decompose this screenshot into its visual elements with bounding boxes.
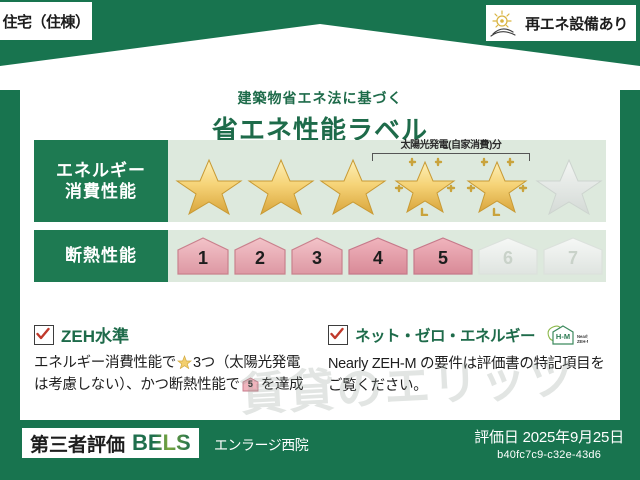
energy-rating-area: 太陽光発電(自家消費)分 <box>168 140 606 222</box>
insulation-badge-5: 5 <box>412 236 474 276</box>
builder-name: エンラージ西院 <box>214 435 308 455</box>
evaluation-date-label: 評価日 <box>474 429 518 446</box>
building-type-tag: 住宅（住棟） <box>0 2 92 40</box>
bels-jp-label: 第三者評価 <box>30 430 125 457</box>
note-zeh-body-part1: エネルギー消費性能で <box>34 355 176 371</box>
evaluation-info: 評価日 2025年9月25日 b40fc7c9-c32e-43d6 <box>474 426 624 461</box>
energy-performance-label: エネルギー 消費性能 <box>34 140 168 222</box>
evaluation-date-value: 2025年9月25日 <box>523 429 624 446</box>
energy-performance-label: 住宅（住棟） 再エネ設備あり 建築物省エネ法に基づく 省エネ性能ラベル <box>0 0 640 480</box>
criteria-notes: ZEH水準 エネルギー消費性能で3つ（太陽光発電は考慮しない）、かつ断熱性能で5… <box>34 322 610 398</box>
note-zeh-title: ZEH水準 <box>61 322 129 347</box>
insulation-badge-7-num: 7 <box>542 248 604 269</box>
insulation-badge-2: 2 <box>233 236 287 276</box>
insulation-badge-4-num: 4 <box>347 248 409 269</box>
footer-bar: 第三者評価 BELS エンラージ西院 評価日 2025年9月25日 b40fc7… <box>0 420 640 480</box>
insulation-badge-3-num: 3 <box>290 248 344 269</box>
star-2 <box>246 154 316 216</box>
checkbox-checked-icon-2 <box>328 325 348 345</box>
bels-en-label: BELS <box>132 430 191 456</box>
insulation-badge-1-num: 1 <box>176 248 230 269</box>
star-3 <box>318 154 388 216</box>
note-zeh-header: ZEH水準 <box>34 322 314 347</box>
note-net-zero-energy: ネット・ゼロ・エネルギー H-M Nearly ZEH-M Nearly ZEH… <box>328 322 608 398</box>
insulation-badge-4: 4 <box>347 236 409 276</box>
insulation-badge-2-num: 2 <box>233 248 287 269</box>
bels-evaluation-box: 第三者評価 BELS <box>22 428 199 458</box>
renewable-equipment-tag: 再エネ設備あり <box>486 5 636 41</box>
star-4-solar <box>390 154 460 216</box>
svg-text:H-M: H-M <box>556 332 570 341</box>
checkbox-checked-icon <box>34 325 54 345</box>
insulation-label-text: 断熱性能 <box>65 245 137 266</box>
label-title-block: 建築物省エネ法に基づく 省エネ性能ラベル <box>0 88 640 147</box>
insulation-badge-7: 7 <box>542 236 604 276</box>
note-zeh-body-part3: を達成 <box>261 377 304 393</box>
building-type-label: 住宅（住棟） <box>2 11 89 32</box>
sun-renewable-icon <box>490 9 520 37</box>
performance-rows: エネルギー 消費性能 太陽光発電(自家消費)分 <box>34 140 606 282</box>
insulation-step-badges: 1 2 3 4 5 <box>168 236 604 276</box>
insulation-badge-3: 3 <box>290 236 344 276</box>
evaluation-date: 評価日 2025年9月25日 <box>474 426 624 447</box>
energy-label-line2: 消費性能 <box>65 181 137 202</box>
star-5-solar <box>462 154 532 216</box>
insulation-rating-area: 1 2 3 4 5 <box>168 230 606 282</box>
evaluation-uid: b40fc7c9-c32e-43d6 <box>474 449 624 461</box>
note-zeh-body: エネルギー消費性能で3つ（太陽光発電は考慮しない）、かつ断熱性能で5を達成 <box>34 352 314 397</box>
star-6-empty <box>534 154 604 216</box>
star-1 <box>174 154 244 216</box>
inline-house-badge-icon: 5 <box>242 377 259 392</box>
note-nze-title: ネット・ゼロ・エネルギー <box>355 324 535 346</box>
solar-note-caption: 太陽光発電(自家消費)分 <box>372 141 530 151</box>
note-nze-header: ネット・ゼロ・エネルギー H-M Nearly ZEH-M <box>328 322 608 348</box>
insulation-badge-6: 6 <box>477 236 539 276</box>
insulation-badge-6-num: 6 <box>477 248 539 269</box>
energy-star-rating <box>168 154 604 216</box>
nearly-zeh-m-logo: H-M Nearly ZEH-M <box>544 322 588 348</box>
insulation-badge-1: 1 <box>176 236 230 276</box>
svg-text:ZEH-M: ZEH-M <box>577 339 588 344</box>
title-subtitle: 建築物省エネ法に基づく <box>0 88 640 108</box>
note-nze-body: Nearly ZEH-M の要件は評価書の特記項目をご覧ください。 <box>328 353 608 398</box>
note-zeh-standard: ZEH水準 エネルギー消費性能で3つ（太陽光発電は考慮しない）、かつ断熱性能で5… <box>34 322 314 398</box>
energy-label-line1: エネルギー <box>56 160 146 181</box>
inline-star-icon <box>177 355 192 369</box>
inline-house-badge-num: 5 <box>242 380 259 389</box>
insulation-performance-label: 断熱性能 <box>34 230 168 282</box>
insulation-badge-5-num: 5 <box>412 248 474 269</box>
energy-performance-row: エネルギー 消費性能 太陽光発電(自家消費)分 <box>34 140 606 222</box>
renewable-equipment-label: 再エネ設備あり <box>525 13 628 34</box>
insulation-performance-row: 断熱性能 1 2 3 <box>34 230 606 282</box>
